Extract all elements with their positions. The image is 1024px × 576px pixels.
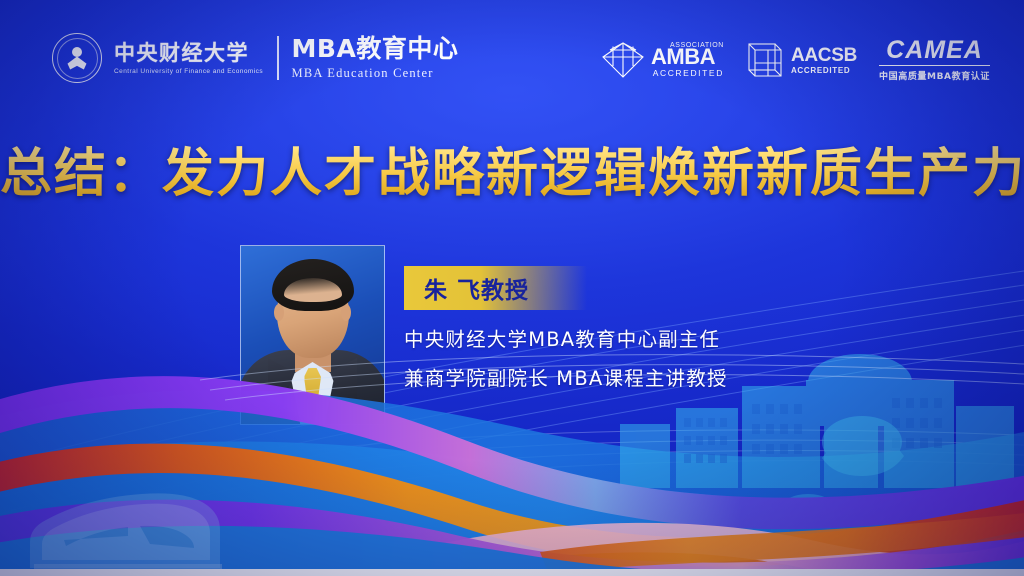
university-name-en: Central University of Finance and Econom… (114, 68, 263, 75)
program-name-cn: MBA教育中心 (292, 35, 459, 63)
accreditation-aacsb: AACSB ACCREDITED (746, 35, 857, 85)
camea-rule (879, 65, 990, 66)
program-name-en: MBA Education Center (292, 66, 459, 81)
page-title: 总结：发力人才战略新逻辑焕新新质生产力 (0, 131, 1024, 206)
camea-line2: 中国高质量MBA教育认证 (879, 69, 990, 82)
presentation-slide: 中央财经大学 Central University of Finance and… (0, 0, 1024, 576)
university-name-cn: 中央财经大学 (114, 41, 263, 65)
speaker-name-badge: 朱 飞教授 (404, 266, 587, 310)
amba-line2: AMBA (651, 46, 724, 68)
bottom-strip (0, 569, 1024, 576)
university-crest-icon (52, 33, 102, 83)
accreditation-amba: ASSOCIATION AMBA ACCREDITED (600, 35, 724, 85)
accreditation-logos: ASSOCIATION AMBA ACCREDITED AACSB A (600, 34, 990, 86)
decorative-artwork (0, 346, 1024, 576)
aacsb-line2: ACCREDITED (791, 67, 857, 75)
camea-line1: CAMEA (886, 38, 983, 63)
speaker-name: 朱 飞教授 (424, 271, 529, 305)
aacsb-cube-icon (746, 41, 784, 79)
aacsb-line1: AACSB (791, 46, 857, 65)
amba-diamond-icon (600, 40, 646, 80)
accreditation-camea: CAMEA 中国高质量MBA教育认证 (879, 35, 990, 85)
amba-line3: ACCREDITED (651, 69, 724, 78)
university-logo: 中央财经大学 Central University of Finance and… (52, 30, 458, 86)
logo-divider (277, 36, 279, 80)
slide-header: 中央财经大学 Central University of Finance and… (0, 0, 1024, 108)
